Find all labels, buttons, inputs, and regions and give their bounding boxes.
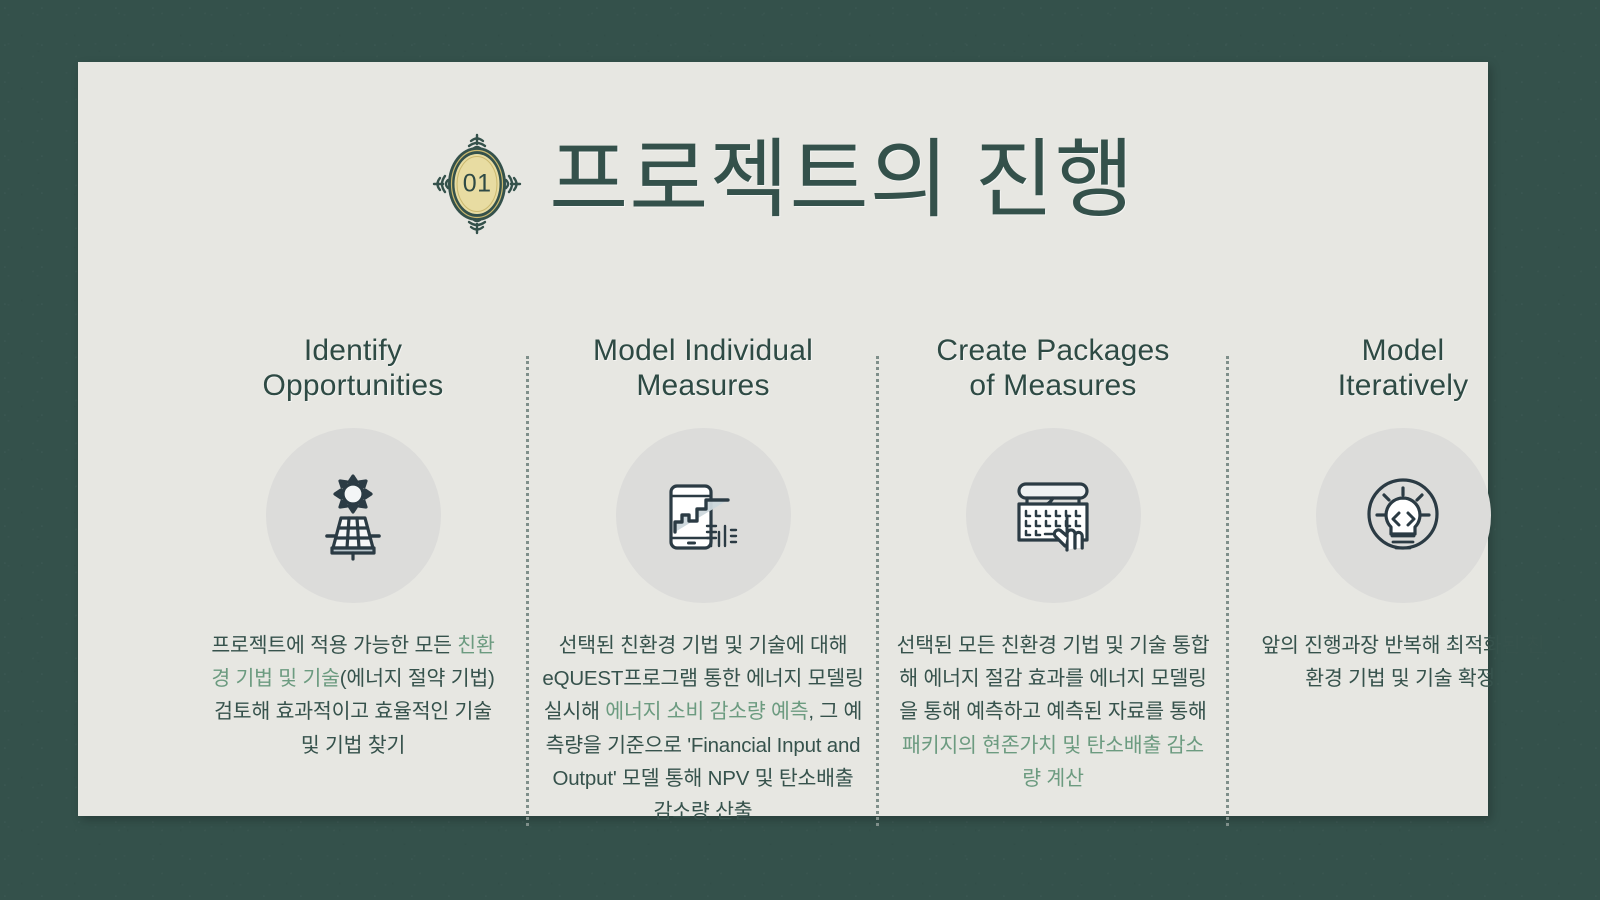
body-text: 프로젝트에 적용 가능한 모든	[211, 634, 457, 657]
badge-number: 01	[431, 170, 523, 199]
body-text: 앞의 진행과장 반복해 최적화된 친환경 기법 및 기술 확정.	[1261, 634, 1544, 690]
body-text: 선택된 모든 친환경 기법 및 기술 통합해 에너지 절감 효과를 에너지 모델…	[897, 634, 1210, 723]
solar-panel-sun-icon	[266, 428, 441, 603]
step-description: 선택된 모든 친환경 기법 및 기술 통합해 에너지 절감 효과를 에너지 모델…	[894, 629, 1212, 795]
step-description: 프로젝트에 적용 가능한 모든 친환경 기법 및 기술(에너지 절약 기법) 검…	[207, 629, 499, 762]
keyboard-hand-icon	[966, 428, 1141, 603]
page-title: 프로젝트의 진행	[549, 137, 1135, 231]
smartphone-chart-icon	[616, 428, 791, 603]
steps-row: IdentifyOpportunities	[178, 334, 1578, 834]
step-column-model-iteratively: ModelIteratively	[1228, 334, 1578, 695]
highlighted-text: 에너지 소비 감소량 예측	[605, 700, 808, 723]
step-description: 선택된 친환경 기법 및 기술에 대해 eQUEST프로그램 통한 에너지 모델…	[542, 629, 864, 828]
step-description: 앞의 진행과장 반복해 최적화된 친환경 기법 및 기술 확정.	[1253, 629, 1553, 695]
step-column-model-individual-measures: Model IndividualMeasures	[528, 334, 878, 828]
step-title: Create Packagesof Measures	[936, 334, 1169, 406]
step-title: IdentifyOpportunities	[262, 334, 443, 406]
ornate-oval-badge-icon: 01	[431, 132, 523, 236]
step-column-identify-opportunities: IdentifyOpportunities	[178, 334, 528, 762]
slide-card: 01 프로젝트의 진행 IdentifyOpportunities	[78, 62, 1488, 816]
step-title: Model IndividualMeasures	[593, 334, 813, 406]
lightbulb-code-icon	[1316, 428, 1491, 603]
slide-header: 01 프로젝트의 진행	[78, 124, 1488, 244]
step-title: ModelIteratively	[1338, 334, 1469, 406]
step-column-create-packages-of-measures: Create Packagesof Measures	[878, 334, 1228, 795]
highlighted-text: 패키지의 현존가치 및 탄소배출 감소량 계산	[902, 734, 1204, 790]
